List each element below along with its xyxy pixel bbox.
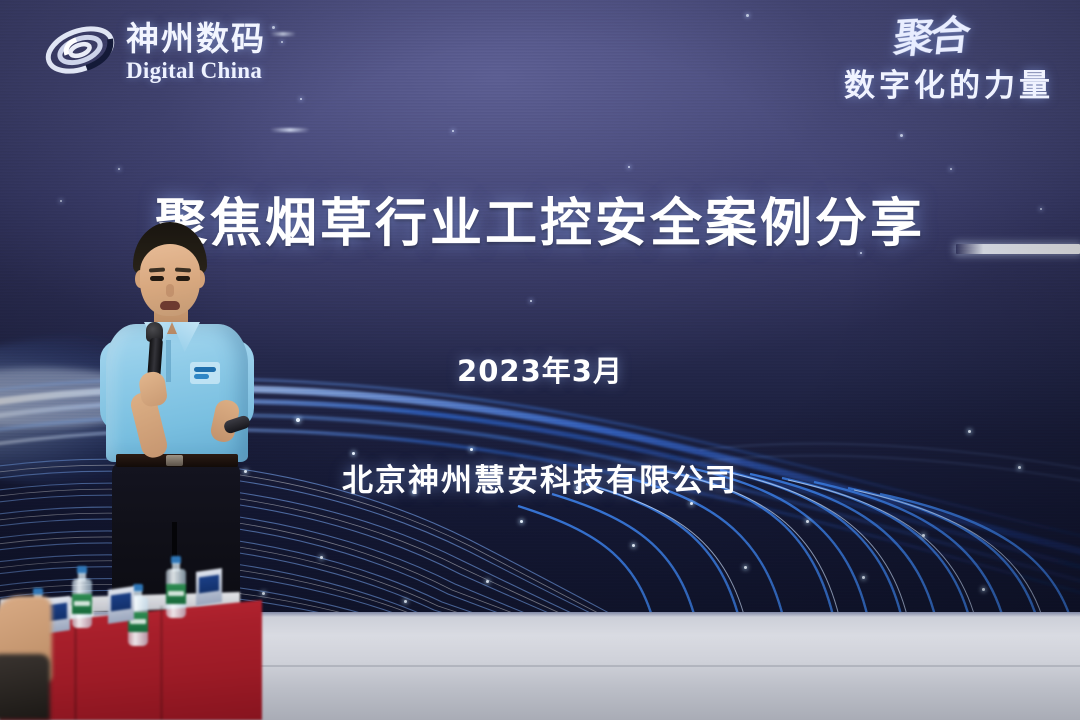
speaker-eye-left [150, 276, 164, 281]
event-seal-text: 聚合 [842, 17, 969, 61]
brand-name-en: Digital China [126, 59, 266, 82]
conference-stage-photo: 神州数码 Digital China 聚合 数字化的力量 聚焦烟草行业工控安全案… [0, 0, 1080, 720]
speaker-mouth [160, 301, 180, 310]
speaker-nose [166, 284, 174, 297]
foreground-attendee-body [0, 654, 50, 720]
speaker-shirt-placket [166, 340, 171, 382]
stage-floor-seam [250, 665, 1080, 667]
brand-name-cn: 神州数码 [126, 22, 266, 55]
light-streak-mid [270, 32, 296, 36]
light-streak-left [270, 128, 310, 132]
water-bottle [72, 566, 92, 628]
digital-china-spiral-logo-icon [44, 19, 116, 81]
name-tent-card [108, 586, 134, 624]
event-tagline-subtitle: 数字化的力量 [844, 60, 1054, 105]
table-cloth-fold [74, 614, 77, 720]
event-tagline: 聚合 数字化的力量 [844, 20, 1054, 105]
water-bottle [166, 556, 186, 618]
name-tent-card [196, 568, 222, 606]
table-cloth-fold [160, 606, 163, 720]
brand-logo: 神州数码 Digital China [44, 18, 266, 82]
speaker-belt-buckle [166, 455, 183, 466]
speaker-eye-right [176, 276, 190, 281]
speaker-chest-badge-icon [190, 362, 220, 384]
